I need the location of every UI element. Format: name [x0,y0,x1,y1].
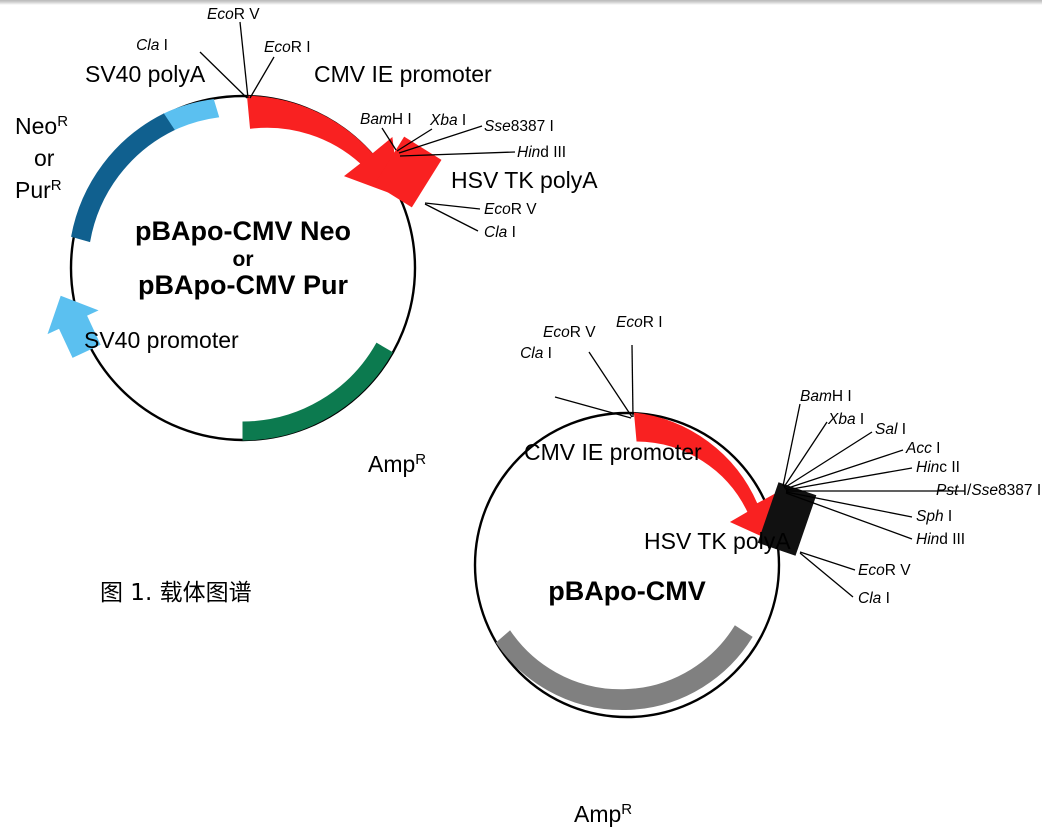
plasmid2-site-sal-i: Sal I [875,421,906,438]
plasmid1-cmv-promoter-label: CMV IE promoter [314,61,492,87]
plasmid1-hsv-tk-polya-label: HSV TK polyA [451,167,598,193]
plasmid1-top-leader-lines [200,22,274,98]
plasmid2-site-acc-i: Acc I [905,440,940,457]
plasmid1-or-label: or [34,145,55,171]
plasmid1-site-xba-i: Xba I [429,112,466,129]
plasmid2-title: pBApo-CMV [548,576,705,606]
plasmid1-site-sse8387-i: Sse8387 I [484,118,554,135]
plasmid1-sv40-polya-label: SV40 polyA [85,61,206,87]
plasmid2-top-leader-lines [555,345,633,418]
plasmid2-cmv-promoter-arrow [635,413,783,545]
plasmid2-ampr-label: AmpR [574,801,632,828]
plasmid1-lower-leader-lines [425,203,480,231]
figure-page: SV40 polyA NeoR or PurR SV40 promoter Am… [0,0,1042,831]
plasmid2-site-ecor-i: EcoR I [616,314,663,331]
plasmid1-site-ecor-v: EcoR V [207,6,260,23]
plasmid1-map: SV40 polyA NeoR or PurR SV40 promoter Am… [15,6,598,477]
plasmid1-neo-label: NeoR [15,113,68,140]
plasmid1-site-bamh-i: BamH I [360,111,412,128]
plasmid1-title-or: or [233,248,254,271]
plasmid1-site-lower-cla-i: Cla I [484,224,516,241]
plasmid2-cmv-promoter-label: CMV IE promoter [524,439,702,465]
plasmid2-ampr-arc [497,626,753,710]
plasmid2-site-pst-i-sse8387-i: Pst I/Sse8387 I [936,482,1041,499]
plasmid2-site-sph-i: Sph I [916,508,952,525]
plasmid2-lower-leader-lines [800,552,855,597]
plasmid1-sv40-polya-arc [164,100,219,130]
plasmid1-site-lower-ecor-v: EcoR V [484,201,537,218]
plasmid1-site-ecor-i: EcoR I [264,39,311,56]
plasmid-maps-figure: SV40 polyA NeoR or PurR SV40 promoter Am… [0,0,1042,831]
plasmid1-ampr-label: AmpR [368,451,426,478]
plasmid2-site-bamh-i: BamH I [800,388,852,405]
plasmid1-site-hind-iii: Hind III [517,144,566,161]
plasmid1-title-line2: pBApo-CMV Pur [138,270,348,300]
plasmid1-ampr-arc [243,343,392,440]
plasmid1-title-line1: pBApo-CMV Neo [135,216,351,246]
plasmid2-map: CMV IE promoter HSV TK polyA AmpR pBApo-… [475,314,1041,827]
plasmid2-site-hind-iii: Hind III [916,531,965,548]
plasmid2-site-hinc-ii: Hinc II [916,459,960,476]
plasmid2-site-xba-i: Xba I [827,411,864,428]
plasmid1-neo-pur-label: NeoR or PurR [15,113,68,204]
figure-caption: 图 1. 载体图谱 [100,580,252,606]
plasmid1-sv40-promoter-label: SV40 promoter [84,327,239,353]
plasmid2-hsv-tk-polya-label: HSV TK polyA [644,528,791,554]
plasmid2-site-ecor-v: EcoR V [543,324,596,341]
plasmid1-pur-label: PurR [15,177,62,204]
plasmid2-site-lower-ecor-v: EcoR V [858,562,911,579]
plasmid1-site-cla-i: Cla I [136,37,168,54]
plasmid2-site-cla-i: Cla I [520,345,552,362]
plasmid2-site-lower-cla-i: Cla I [858,590,890,607]
